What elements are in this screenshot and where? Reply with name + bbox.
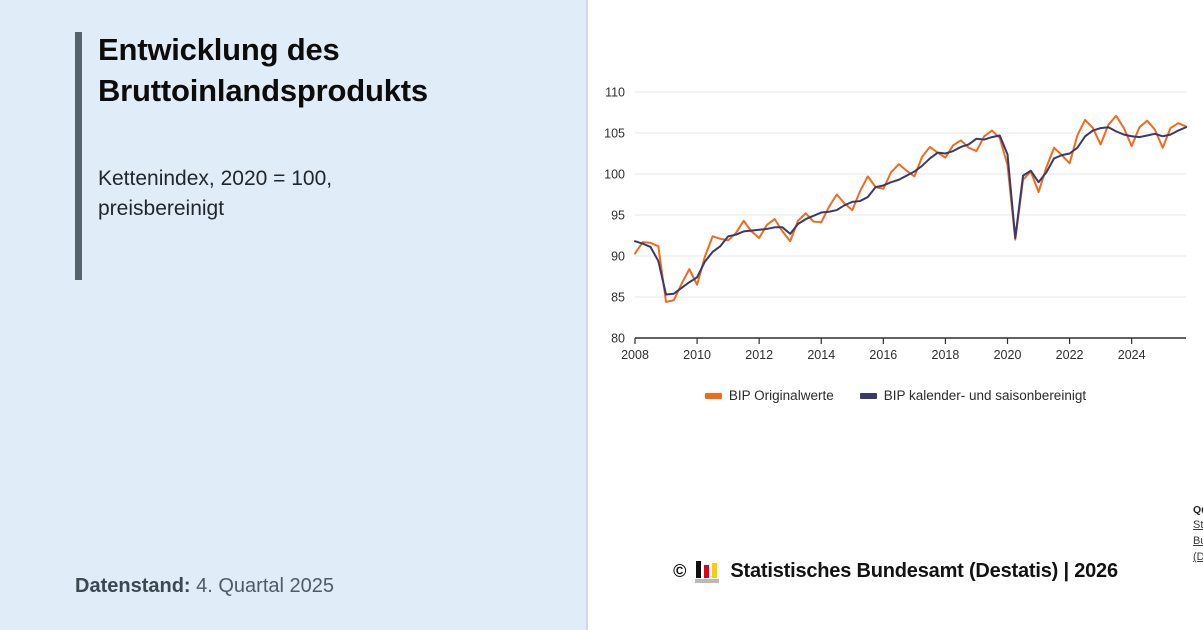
legend-swatch-adjusted <box>860 393 877 399</box>
copyright-icon: © <box>673 561 686 582</box>
page-title-line2: Bruttoinlandsprodukts <box>98 73 428 108</box>
page-subtitle-line1: Kettenindex, 2020 = 100, <box>98 167 332 190</box>
page-title: Entwicklung des Bruttoinlandsprodukts <box>98 30 568 112</box>
legend-label-original: BIP Originalwerte <box>729 388 834 403</box>
svg-text:80: 80 <box>611 332 625 346</box>
gdp-line-chart: 8085909510010511020082010201220142016201… <box>588 78 1203 378</box>
logo-bar-black <box>696 561 701 578</box>
legend-item-original: BIP Originalwerte <box>705 388 834 403</box>
title-panel: Entwicklung des Bruttoinlandsprodukts Ke… <box>0 0 588 630</box>
chart-svg: 8085909510010511020082010201220142016201… <box>588 78 1203 378</box>
source-link-destatis[interactable]: Statistisches Bundesamt (Destatis) <box>1193 518 1203 566</box>
sources-block: Quellen: Statistisches Bundesamt (Destat… <box>1193 503 1203 566</box>
chart-panel: 8085909510010511020082010201220142016201… <box>588 0 1203 630</box>
datenstand-label: Datenstand: <box>75 575 191 597</box>
logo-bars <box>696 561 717 578</box>
svg-text:100: 100 <box>604 168 625 182</box>
legend-swatch-original <box>705 393 722 399</box>
svg-text:2016: 2016 <box>869 348 897 362</box>
svg-text:2010: 2010 <box>683 348 711 362</box>
destatis-logo-icon <box>695 561 721 583</box>
footer-credit: © Statistisches Bundesamt (Destatis) | 2… <box>588 560 1203 583</box>
chart-legend: BIP Originalwerte BIP kalender- und sais… <box>588 388 1203 403</box>
legend-label-adjusted: BIP kalender- und saisonbereinigt <box>884 388 1086 403</box>
svg-text:2024: 2024 <box>1118 348 1146 362</box>
sources-row: Statistisches Bundesamt (Destatis) i <box>1193 518 1203 566</box>
svg-text:110: 110 <box>605 86 625 100</box>
svg-text:85: 85 <box>611 291 625 305</box>
logo-bar-gold <box>712 563 717 578</box>
svg-text:105: 105 <box>604 127 625 141</box>
footer-text: Statistisches Bundesamt (Destatis) | 202… <box>730 560 1118 583</box>
datenstand: Datenstand: 4. Quartal 2025 <box>75 575 334 598</box>
svg-text:2020: 2020 <box>994 348 1022 362</box>
datenstand-value: 4. Quartal 2025 <box>196 575 334 597</box>
svg-text:2014: 2014 <box>807 348 835 362</box>
svg-text:2018: 2018 <box>932 348 960 362</box>
logo-bar-red <box>704 565 709 578</box>
svg-text:2022: 2022 <box>1056 348 1084 362</box>
svg-text:2008: 2008 <box>621 348 649 362</box>
svg-text:95: 95 <box>611 209 625 223</box>
svg-text:90: 90 <box>611 250 625 264</box>
logo-baseline <box>695 579 719 583</box>
legend-item-adjusted: BIP kalender- und saisonbereinigt <box>860 388 1086 403</box>
page-subtitle-line2: preisbereinigt <box>98 197 224 220</box>
page-title-line1: Entwicklung des <box>98 32 340 67</box>
page-subtitle: Kettenindex, 2020 = 100, preisbereinigt <box>98 164 568 225</box>
sources-title: Quellen: <box>1193 503 1203 518</box>
svg-text:2012: 2012 <box>745 348 773 362</box>
title-accent-bar <box>75 32 82 280</box>
title-block: Entwicklung des Bruttoinlandsprodukts Ke… <box>98 30 568 225</box>
infographic-page: Entwicklung des Bruttoinlandsprodukts Ke… <box>0 0 1203 630</box>
